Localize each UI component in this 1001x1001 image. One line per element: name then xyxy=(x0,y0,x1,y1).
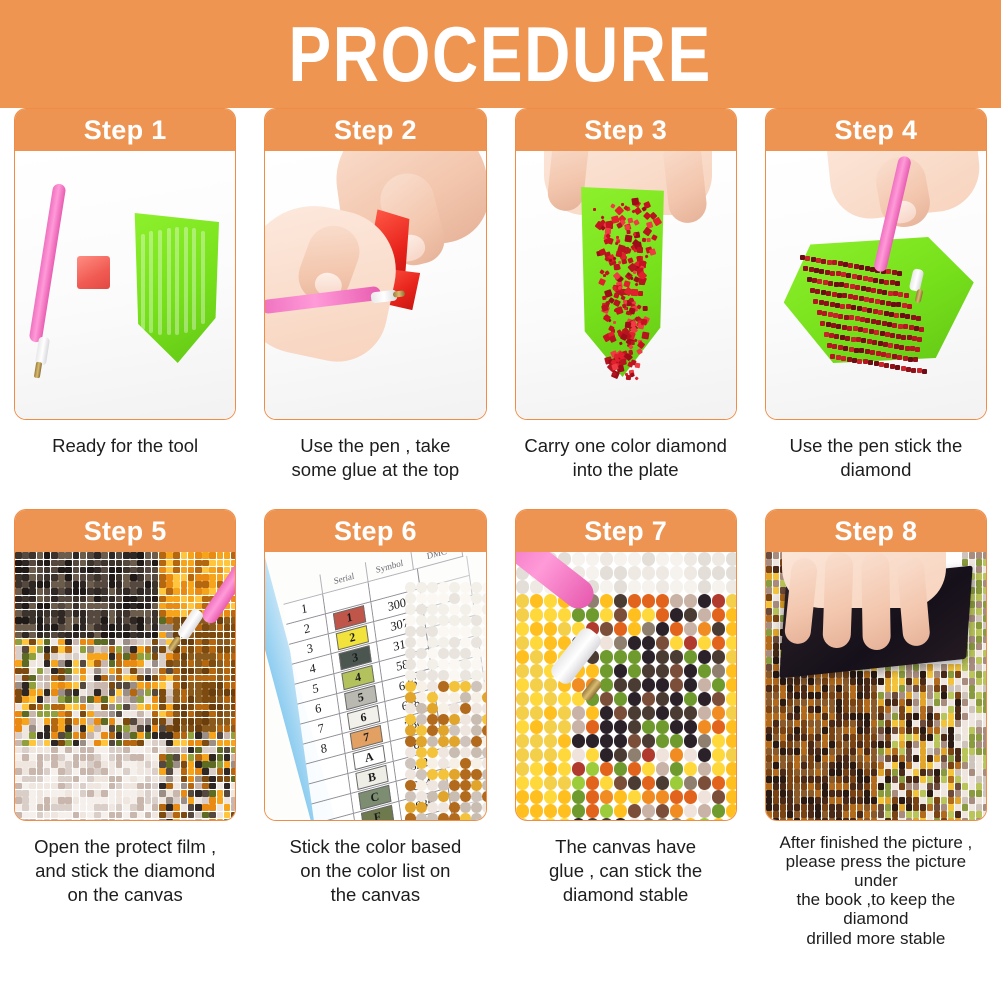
step-image-1 xyxy=(15,151,235,419)
step-header-1: Step 1 xyxy=(15,109,235,151)
color-list-scene: SerialSymbolDMC1213003230743310545816564… xyxy=(265,552,485,820)
step-card-2: Step 2 xyxy=(264,108,486,420)
drill-rows xyxy=(766,151,986,419)
step-header-4: Step 4 xyxy=(766,109,986,151)
step-image-3 xyxy=(516,151,736,419)
step-header-5: Step 5 xyxy=(15,510,235,552)
step-caption-8: After finished the picture , please pres… xyxy=(765,833,987,947)
step-cell-5: Step 5 Open the protect fi xyxy=(0,509,250,947)
step-cell-7: Step 7 The canvas have xyxy=(501,509,751,947)
step-caption-2: Use the pen , take some glue at the top xyxy=(264,434,486,481)
step-caption-3: Carry one color diamond into the plate xyxy=(515,434,737,481)
page-title: PROCEDURE xyxy=(289,15,712,93)
step-caption-6: Stick the color based on the color list … xyxy=(264,835,486,906)
procedure-infographic: PROCEDURE Step 1 xyxy=(0,0,1001,1001)
step-header-2: Step 2 xyxy=(265,109,485,151)
step-cell-3: Step 3 Ca xyxy=(501,108,751,485)
sunflower-mosaic xyxy=(15,552,235,820)
step-caption-1: Ready for the tool xyxy=(14,434,236,458)
step-caption-4: Use the pen stick the diamond xyxy=(765,434,987,481)
step-card-4: Step 4 xyxy=(765,108,987,420)
step-header-7: Step 7 xyxy=(516,510,736,552)
drills-in-plate-scene xyxy=(516,151,736,419)
press-with-book-scene xyxy=(766,552,986,820)
step-image-8 xyxy=(766,552,986,820)
step-card-3: Step 3 xyxy=(515,108,737,420)
tray-grooves xyxy=(133,213,219,363)
step-card-7: Step 7 xyxy=(515,509,737,821)
step-header-3: Step 3 xyxy=(516,109,736,151)
pick-diamond-scene xyxy=(766,151,986,419)
step-caption-5: Open the protect film , and stick the di… xyxy=(14,835,236,906)
finger-3 xyxy=(861,552,891,650)
steps-row-2: Step 5 Open the protect fi xyxy=(0,509,1001,947)
step-image-5 xyxy=(15,552,235,820)
steps-row-1: Step 1 xyxy=(0,108,1001,485)
step-cell-6: Step 6 SerialSymbolDMC121300323074331054… xyxy=(250,509,500,947)
step-header-6: Step 6 xyxy=(265,510,485,552)
canvas-edge-mosaic xyxy=(265,552,485,820)
glue-square-icon xyxy=(77,256,110,289)
step-card-5: Step 5 xyxy=(14,509,236,821)
step-cell-8: Step 8 xyxy=(751,509,1001,947)
drill-macro-scene xyxy=(516,552,736,820)
step-image-2 xyxy=(265,151,485,419)
step-image-4 xyxy=(766,151,986,419)
glue-on-pen-scene xyxy=(265,151,485,419)
step-cell-4: Step 4 xyxy=(751,108,1001,485)
step-caption-7: The canvas have glue , can stick the dia… xyxy=(515,835,737,906)
steps-grid: Step 1 xyxy=(0,108,1001,948)
pink-pen-icon xyxy=(29,183,67,343)
step-image-6: SerialSymbolDMC1213003230743310545816564… xyxy=(265,552,485,820)
step-card-1: Step 1 xyxy=(14,108,236,420)
step-card-8: Step 8 xyxy=(765,509,987,821)
step-cell-2: Step 2 xyxy=(250,108,500,485)
canvas-closeup-scene xyxy=(15,552,235,820)
step-header-8: Step 8 xyxy=(766,510,986,552)
step-card-6: Step 6 SerialSymbolDMC121300323074331054… xyxy=(264,509,486,821)
tools-scene xyxy=(15,151,235,419)
red-drills-scatter xyxy=(516,151,736,419)
step-cell-1: Step 1 xyxy=(0,108,250,485)
pen-metal-nib-icon xyxy=(34,362,42,379)
green-tray-icon xyxy=(133,213,219,363)
round-drills-macro xyxy=(516,552,736,820)
finger-2 xyxy=(822,552,853,648)
page-banner: PROCEDURE xyxy=(0,0,1001,108)
